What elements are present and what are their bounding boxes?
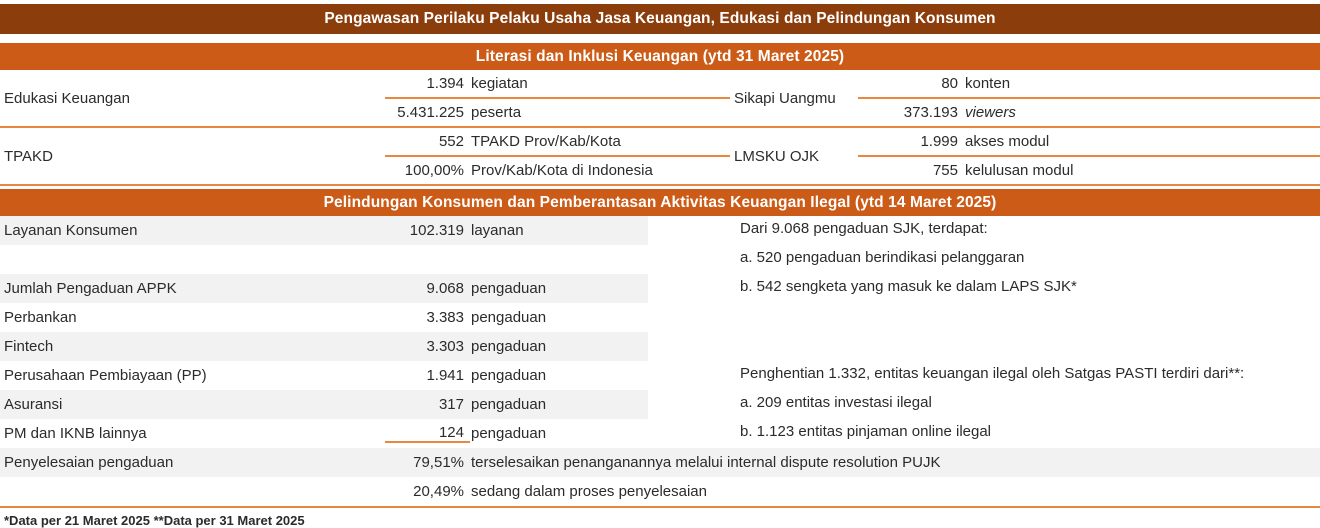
- literasi-section: Edukasi Keuangan 1.394 kegiatan 5.431.22…: [0, 70, 1320, 186]
- section-bottom-divider: [0, 184, 1320, 186]
- infographic-sheet: Pengawasan Perilaku Pelaku Usaha Jasa Ke…: [0, 4, 1320, 495]
- row-label: LMSKU OJK: [730, 128, 858, 184]
- value-line: 100,00% Prov/Kab/Kota di Indonesia: [385, 157, 730, 184]
- value-line: 373.193 viewers: [858, 99, 1320, 126]
- value-unit: konten: [964, 75, 1010, 92]
- row-label: Perusahaan Pembiayaan (PP): [0, 367, 385, 384]
- value-number: 1.394: [385, 75, 470, 92]
- literasi-left-column: Edukasi Keuangan 1.394 kegiatan 5.431.22…: [0, 70, 730, 184]
- section-2-title: Pelindungan Konsumen dan Pemberantasan A…: [324, 195, 997, 211]
- row-values: 1.394 kegiatan 5.431.225 peserta: [385, 70, 730, 126]
- row-unit: terselesaikan penanganannya melalui inte…: [470, 454, 1320, 471]
- value-number: 1.999: [858, 133, 964, 150]
- literasi-group: Sikapi Uangmu 80 konten 373.193 viewers: [730, 70, 1320, 126]
- note-b-line-2: a. 209 entitas investasi ilegal: [740, 394, 1320, 411]
- value-line: 1.999 akses modul: [858, 128, 1320, 157]
- note-a-line-3: b. 542 sengketa yang masuk ke dalam LAPS…: [740, 278, 1320, 295]
- row-unit: sedang dalam proses penyelesaian: [470, 483, 1320, 500]
- row-label: Asuransi: [0, 396, 385, 413]
- row-label: Edukasi Keuangan: [0, 70, 385, 126]
- row-unit: pengaduan: [470, 309, 1320, 326]
- row-values: 80 konten 373.193 viewers: [858, 70, 1320, 126]
- section-1-banner: Literasi dan Inklusi Keuangan (ytd 31 Ma…: [0, 43, 1320, 70]
- footnote: *Data per 21 Maret 2025 **Data per 31 Ma…: [0, 508, 1320, 528]
- literasi-group: Edukasi Keuangan 1.394 kegiatan 5.431.22…: [0, 70, 730, 126]
- literasi-group: LMSKU OJK 1.999 akses modul 755 kelulusa…: [730, 128, 1320, 184]
- note-b-line-3: b. 1.123 entitas pinjaman online ilegal: [740, 423, 1320, 440]
- row-value: 102.319: [385, 222, 470, 239]
- row-label: Penyelesaian pengaduan: [0, 454, 385, 471]
- row-value: 9.068: [385, 280, 470, 297]
- value-line: 5.431.225 peserta: [385, 99, 730, 126]
- note-a-line-2: a. 520 pengaduan berindikasi pelanggaran: [740, 249, 1320, 266]
- section-2-banner: Pelindungan Konsumen dan Pemberantasan A…: [0, 189, 1320, 216]
- row-values: 1.999 akses modul 755 kelulusan modul: [858, 128, 1320, 184]
- row-label: Sikapi Uangmu: [730, 70, 858, 126]
- row-label: TPAKD: [0, 128, 385, 184]
- value-unit: kelulusan modul: [964, 162, 1073, 179]
- literasi-columns: Edukasi Keuangan 1.394 kegiatan 5.431.22…: [0, 70, 1320, 184]
- row-label: Fintech: [0, 338, 385, 355]
- section-1-title: Literasi dan Inklusi Keuangan (ytd 31 Ma…: [476, 49, 844, 65]
- note-a-line-1: Dari 9.068 pengaduan SJK, terdapat:: [740, 220, 1320, 237]
- value-unit: peserta: [470, 104, 521, 121]
- section-bottom-divider: [0, 506, 1320, 508]
- table-row: 20,49% sedang dalam proses penyelesaian: [0, 477, 1320, 506]
- main-title-banner: Pengawasan Perilaku Pelaku Usaha Jasa Ke…: [0, 4, 1320, 34]
- value-number: 552: [385, 133, 470, 150]
- row-value: 79,51%: [385, 454, 470, 471]
- value-unit: viewers: [964, 104, 1016, 121]
- row-label: Perbankan: [0, 309, 385, 326]
- literasi-group: TPAKD 552 TPAKD Prov/Kab/Kota 100,00% Pr…: [0, 128, 730, 184]
- value-unit: kegiatan: [470, 75, 528, 92]
- value-number: 755: [858, 162, 964, 179]
- row-values: 552 TPAKD Prov/Kab/Kota 100,00% Prov/Kab…: [385, 128, 730, 184]
- note-b-line-1: Penghentian 1.332, entitas keuangan ileg…: [740, 365, 1320, 382]
- row-label: PM dan IKNB lainnya: [0, 425, 385, 442]
- table-row: Penyelesaian pengaduan 79,51% terselesai…: [0, 448, 1320, 477]
- row-label: Jumlah Pengaduan APPK: [0, 280, 385, 297]
- row-label: Layanan Konsumen: [0, 222, 385, 239]
- row-value: 3.303: [385, 338, 470, 355]
- page-title: Pengawasan Perilaku Pelaku Usaha Jasa Ke…: [324, 11, 995, 27]
- value-unit: Prov/Kab/Kota di Indonesia: [470, 162, 653, 179]
- row-value: 317: [385, 396, 470, 413]
- row-value: 1.941: [385, 367, 470, 384]
- row-value: 20,49%: [385, 483, 470, 500]
- value-number: 80: [858, 75, 964, 92]
- perlindungan-section: Layanan Konsumen 102.319 layanan Jumlah …: [0, 216, 1320, 508]
- row-value: 3.383: [385, 309, 470, 326]
- value-line: 80 konten: [858, 70, 1320, 99]
- table-row: Perbankan 3.383 pengaduan: [0, 303, 1320, 332]
- value-line: 552 TPAKD Prov/Kab/Kota: [385, 128, 730, 157]
- literasi-right-column: Sikapi Uangmu 80 konten 373.193 viewers: [730, 70, 1320, 184]
- value-line: 755 kelulusan modul: [858, 157, 1320, 184]
- row-unit: pengaduan: [470, 338, 1320, 355]
- value-unit: akses modul: [964, 133, 1049, 150]
- value-number: 373.193: [858, 104, 964, 121]
- value-unit: TPAKD Prov/Kab/Kota: [470, 133, 621, 150]
- row-value: 124: [385, 424, 470, 443]
- value-number: 100,00%: [385, 162, 470, 179]
- value-line: 1.394 kegiatan: [385, 70, 730, 99]
- value-number: 5.431.225: [385, 104, 470, 121]
- table-row: Fintech 3.303 pengaduan: [0, 332, 1320, 361]
